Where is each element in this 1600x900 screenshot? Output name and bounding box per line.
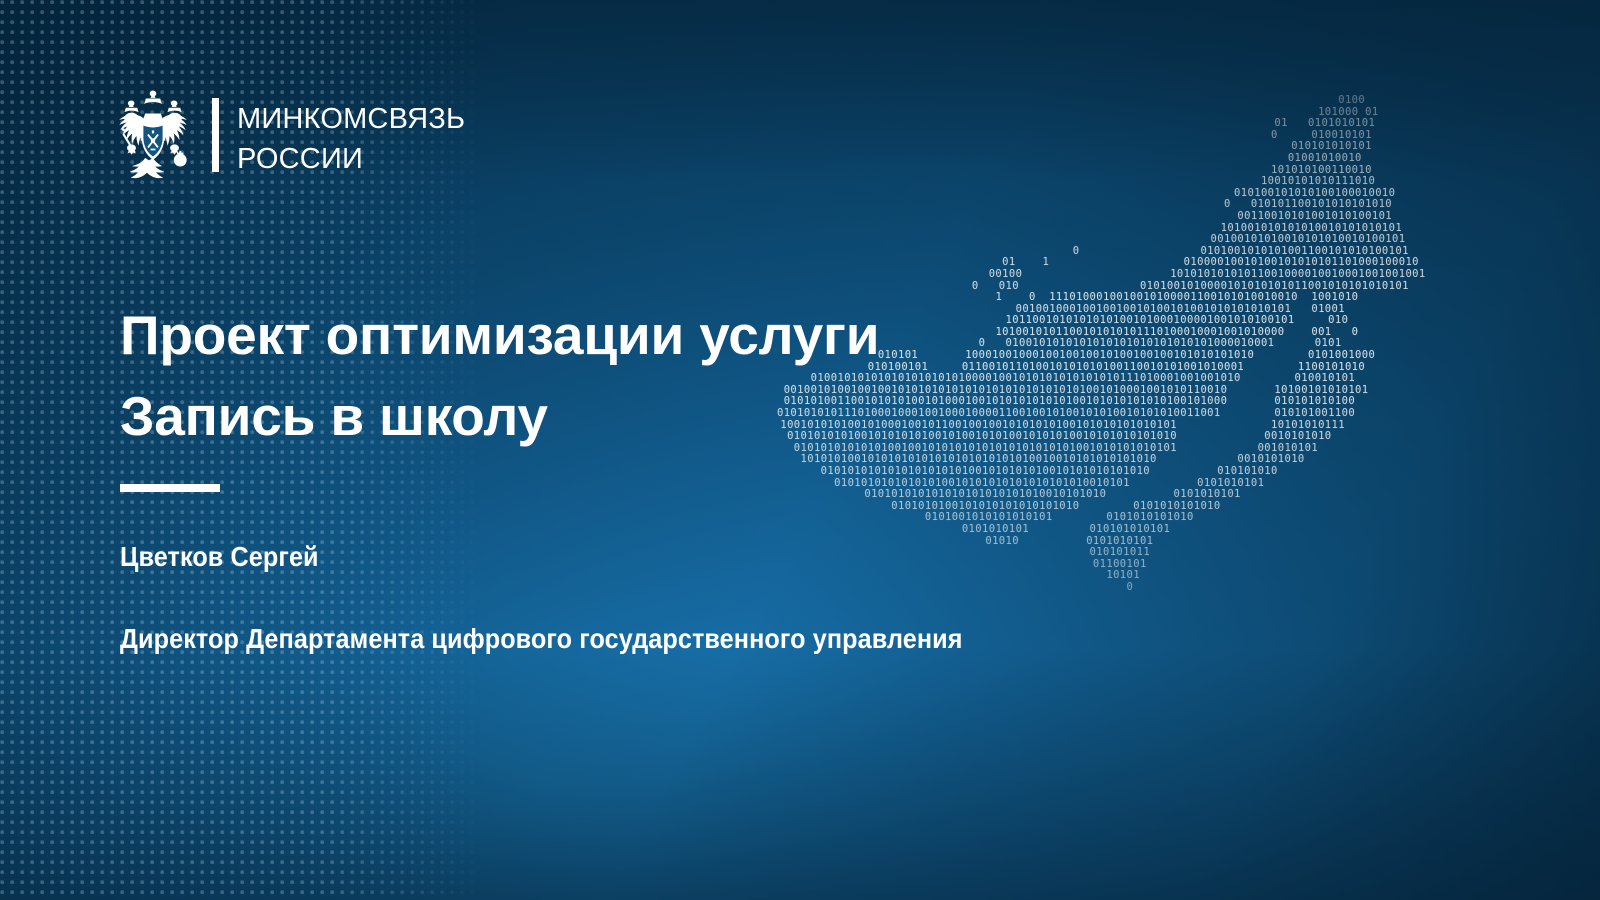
logo-wordmark: Минкомсвязь России: [237, 95, 465, 175]
russian-double-headed-eagle-icon: [110, 89, 196, 181]
speaker-block: Цветков Сергей Директор Департамента циф…: [120, 540, 1120, 661]
title-slide: 0100 101000 01 01 0101010: [0, 0, 1600, 900]
title-divider: [120, 484, 220, 492]
page-title: Проект оптимизации услуги Запись в школу: [120, 295, 1020, 457]
logo-wordmark-line-2: России: [237, 135, 465, 175]
speaker-role: Директор Департамента цифрового государс…: [120, 616, 1020, 661]
page-title-line-1: Проект оптимизации услуги: [120, 295, 1020, 376]
logo-divider-rule: [212, 98, 219, 172]
logo-wordmark-line-1: Минкомсвязь: [237, 95, 465, 135]
ministry-logo: Минкомсвязь России: [110, 88, 465, 182]
speaker-name: Цветков Сергей: [120, 540, 1020, 574]
page-title-line-2: Запись в школу: [120, 376, 1020, 457]
